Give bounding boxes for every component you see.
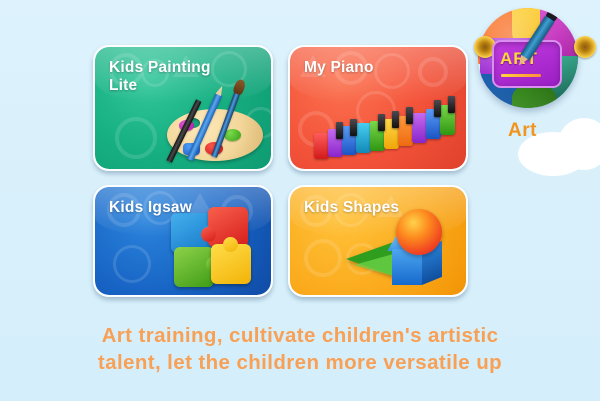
promo-stage: Kids Painting Lite [0, 0, 600, 401]
piano-key [314, 133, 329, 159]
piano-black-key [434, 100, 441, 117]
paper-roll-right-icon [574, 36, 596, 58]
caption-line-2: talent, let the children more versatile … [0, 349, 600, 376]
app-tile-my-piano[interactable]: My Piano [288, 45, 468, 171]
art-screen-underline [501, 74, 541, 77]
shapes-illustration [346, 205, 456, 291]
watermark-spiral-icon [374, 53, 410, 89]
tile-label-line1: Kids Igsaw [109, 199, 192, 217]
tile-label: My Piano [304, 59, 374, 77]
piano-black-key [406, 107, 413, 124]
tile-label-line1: Kids Painting [109, 59, 211, 77]
puzzle-illustration [171, 207, 263, 291]
watermark-circle-icon [418, 57, 448, 87]
puzzle-piece-yellow [211, 244, 251, 284]
piano-black-key [378, 114, 385, 131]
piano-black-key [392, 111, 399, 128]
promo-caption: Art training, cultivate children's artis… [0, 322, 600, 376]
piano-key [356, 123, 371, 153]
piano-black-key [350, 119, 357, 136]
tile-label-line2: Lite [109, 77, 211, 95]
tile-label: Kids Painting Lite [109, 59, 211, 96]
tile-label-line1: My Piano [304, 59, 374, 77]
piano-black-key [336, 122, 343, 139]
tile-label-line1: Kids Shapes [304, 199, 399, 217]
app-tile-kids-shapes[interactable]: Kids Shapes [288, 185, 468, 297]
tile-label: Kids Igsaw [109, 199, 192, 217]
sphere-shape-icon [396, 209, 442, 255]
watermark-circle-icon [304, 239, 342, 277]
piano-illustration [312, 99, 462, 161]
watermark-circle-icon [115, 117, 157, 159]
puzzle-piece-green [174, 247, 214, 287]
art-ball-icon: ART [478, 8, 578, 108]
art-badge-label: Art [508, 120, 537, 142]
art-badge[interactable]: ART Art [478, 8, 592, 138]
app-tile-kids-painting-lite[interactable]: Kids Painting Lite [93, 45, 273, 171]
palette-illustration [161, 93, 265, 163]
app-tile-kids-igsaw[interactable]: Kids Igsaw [93, 185, 273, 297]
piano-black-key [448, 96, 455, 113]
tile-label: Kids Shapes [304, 199, 399, 217]
caption-line-1: Art training, cultivate children's artis… [0, 322, 600, 349]
piano-key [412, 113, 427, 143]
watermark-spiral-icon [113, 245, 151, 283]
